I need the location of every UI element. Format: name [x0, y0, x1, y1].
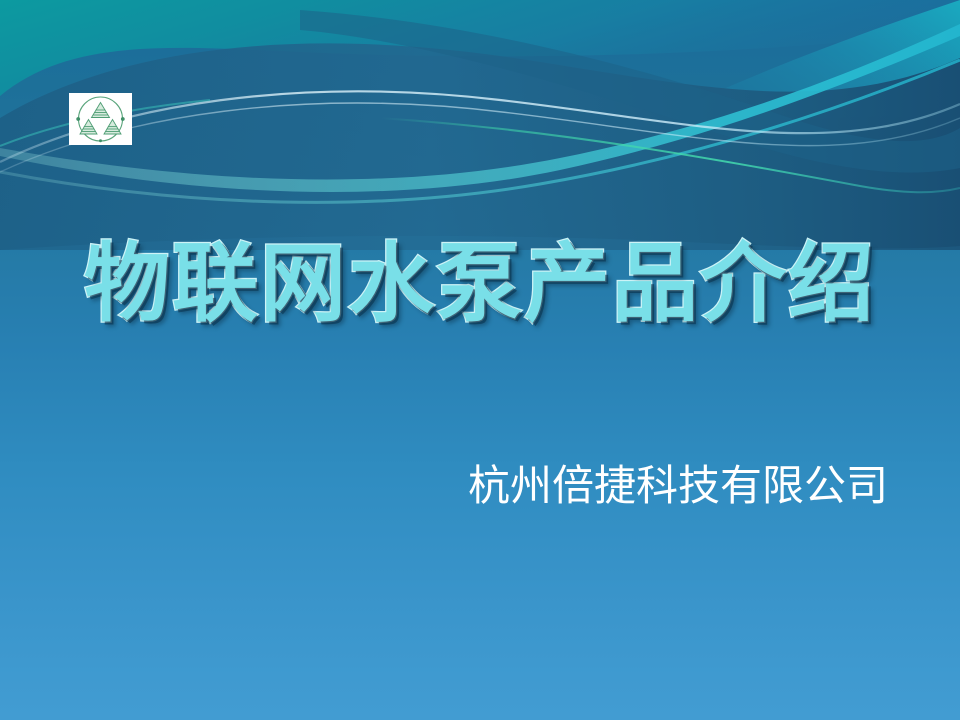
- company-logo: [69, 93, 132, 145]
- presentation-slide: 物联网水泵产品介绍 杭州倍捷科技有限公司: [0, 0, 960, 720]
- slide-subtitle: 杭州倍捷科技有限公司: [0, 460, 960, 512]
- three-pyramids-in-circle-icon: [69, 93, 132, 145]
- slide-title: 物联网水泵产品介绍: [0, 232, 960, 336]
- background-wave-artwork: [0, 0, 960, 720]
